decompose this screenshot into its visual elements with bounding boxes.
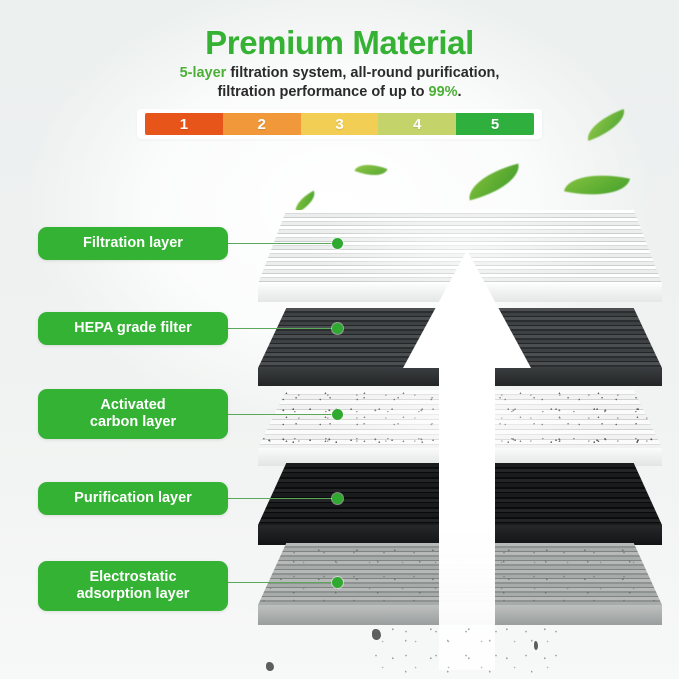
infographic-canvas: Premium Material 5-layer filtration syst… [0, 0, 679, 679]
label-activated-carbon-layer[interactable]: Activated carbon layer [38, 389, 228, 439]
dust-cloud [370, 622, 570, 674]
connector-dot-purification-layer [332, 493, 343, 504]
connector-dot-hepa-grade-filter [332, 323, 343, 334]
label-filtration-layer[interactable]: Filtration layer [38, 227, 228, 260]
dust-particle [266, 662, 274, 671]
connector-line-electrostatic-adsorption-layer [226, 582, 341, 583]
label-text-activated-carbon-layer-line1: Activated [100, 397, 165, 414]
connector-line-activated-carbon-layer [226, 414, 341, 415]
label-text-filtration-layer: Filtration layer [83, 235, 183, 252]
label-text-activated-carbon-layer-line2: carbon layer [90, 414, 176, 431]
connector-line-filtration-layer [226, 243, 341, 244]
connector-dot-activated-carbon-layer [332, 409, 343, 420]
label-purification-layer[interactable]: Purification layer [38, 482, 228, 515]
airflow-arrow-icon [403, 250, 531, 670]
label-hepa-grade-filter[interactable]: HEPA grade filter [38, 312, 228, 345]
label-text-electrostatic-adsorption-layer-line2: adsorption layer [77, 586, 190, 603]
label-text-electrostatic-adsorption-layer-line1: Electrostatic [89, 569, 176, 586]
connector-dot-electrostatic-adsorption-layer [332, 577, 343, 588]
label-text-purification-layer: Purification layer [74, 490, 192, 507]
label-electrostatic-adsorption-layer[interactable]: Electrostatic adsorption layer [38, 561, 228, 611]
label-text-hepa-grade-filter: HEPA grade filter [74, 320, 192, 337]
connector-dot-filtration-layer [332, 238, 343, 249]
connector-line-hepa-grade-filter [226, 328, 341, 329]
connector-line-purification-layer [226, 498, 341, 499]
